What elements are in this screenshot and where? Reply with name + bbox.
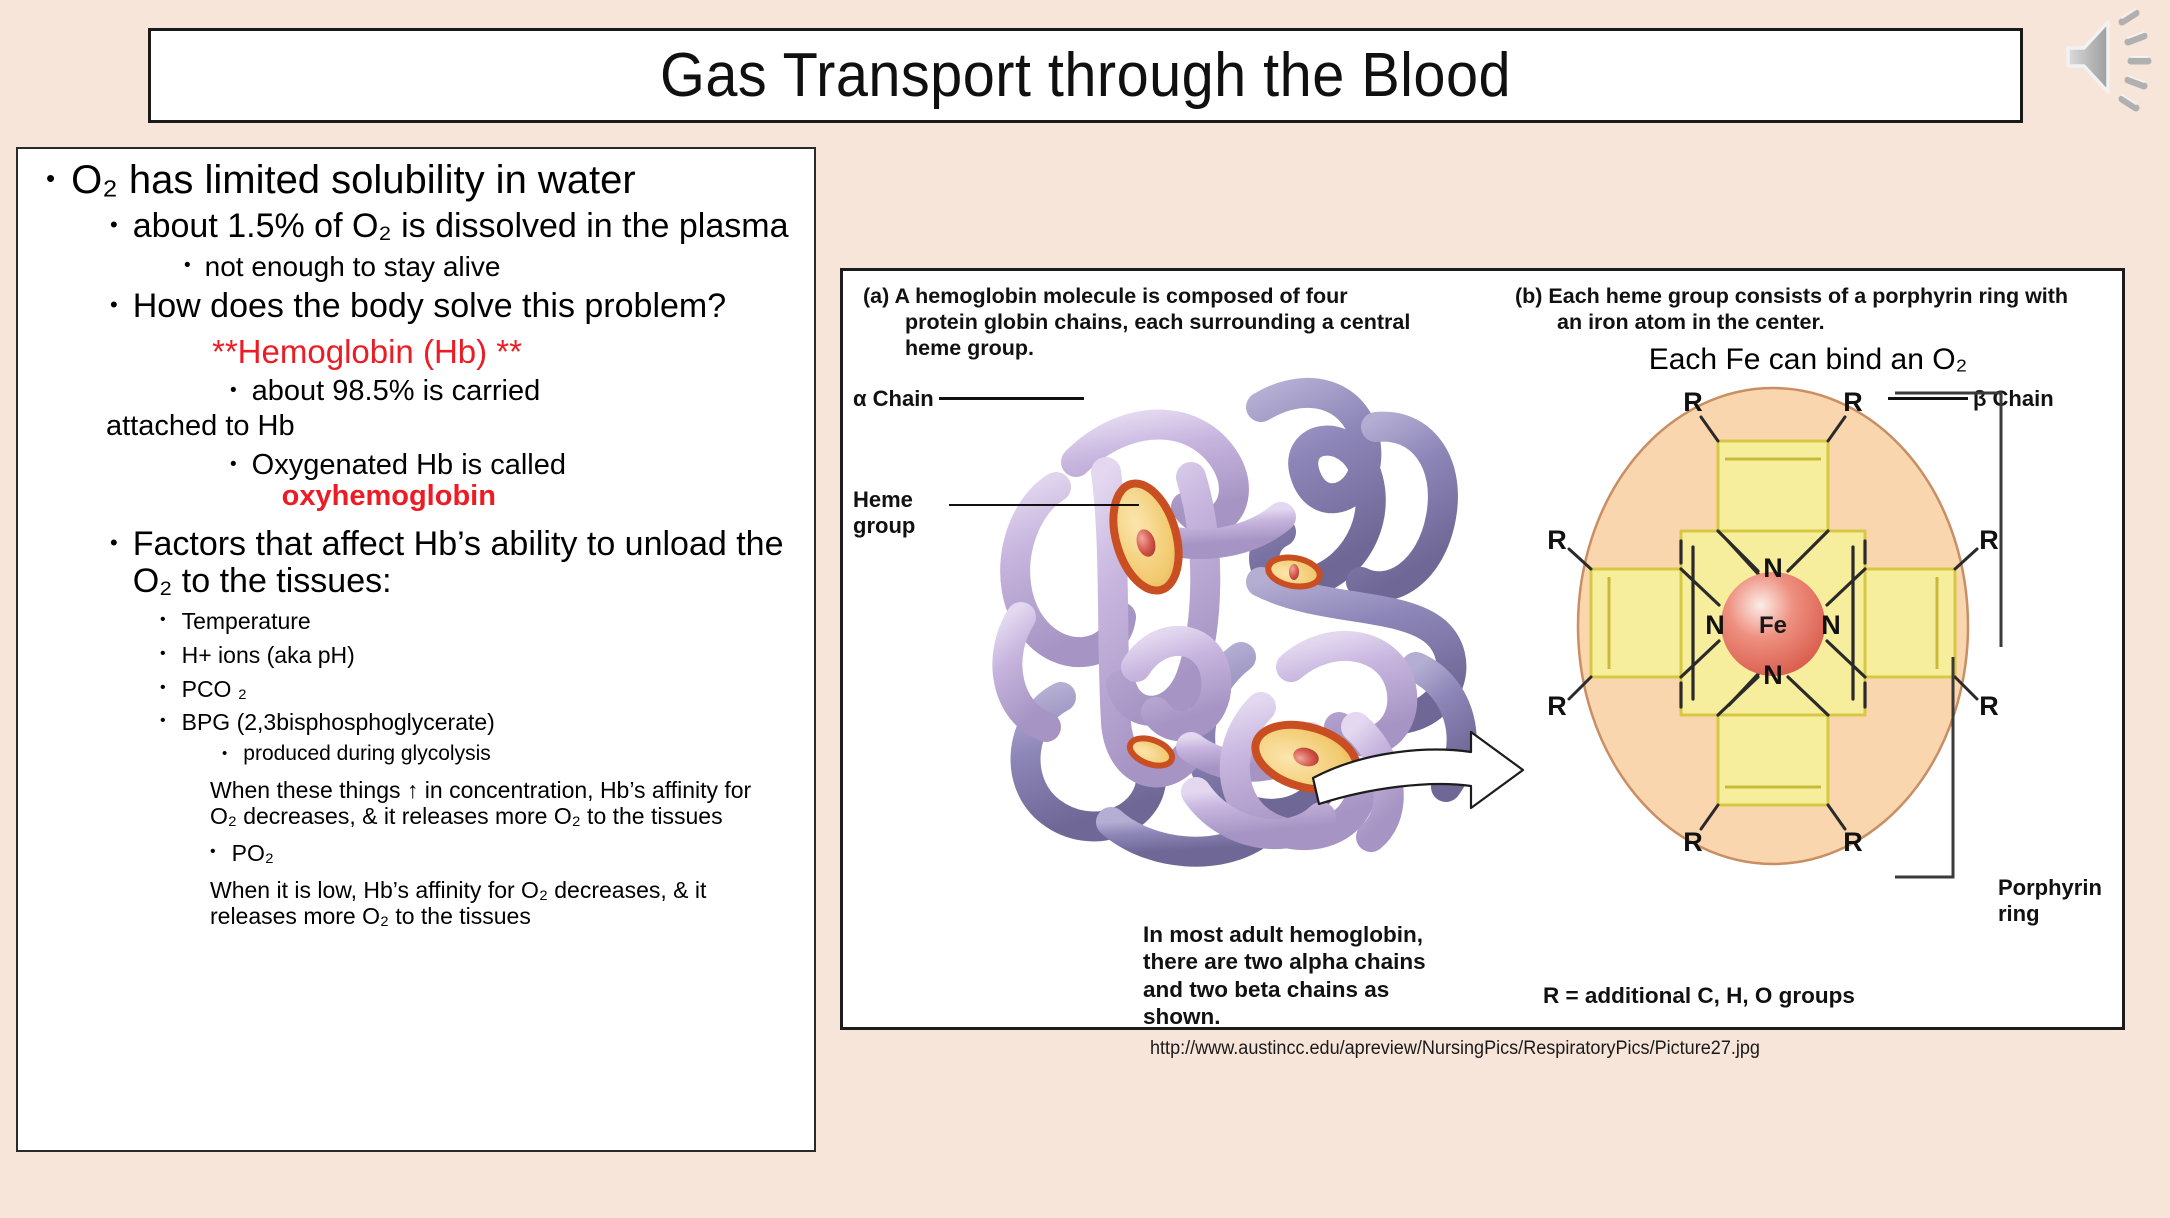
- bullet-level1: • O₂ has limited solubility in water: [46, 159, 800, 202]
- bullet-dot-icon: •: [160, 713, 166, 729]
- bullet-dot-icon: •: [210, 844, 216, 860]
- bullet-text: O₂ has limited solubility in water: [71, 159, 800, 202]
- factor-sub-label: produced during glycolysis: [243, 743, 800, 766]
- figure-caption-b: (b) Each heme group consists of a porphy…: [1515, 283, 2085, 335]
- hemoglobin-heading: **Hemoglobin (Hb) **: [212, 334, 800, 370]
- bullet-dot-icon: •: [160, 646, 166, 662]
- bullet-text: How does the body solve this problem?: [133, 288, 800, 325]
- factor-label: PCO ₂: [182, 677, 800, 702]
- bullet-dot-icon: •: [230, 455, 237, 474]
- factor-list-item: • Temperature: [160, 609, 800, 634]
- label-porphyrin-ring: Porphyrin ring: [1998, 875, 2108, 927]
- svg-text:R: R: [1843, 387, 1863, 417]
- factor-list-item: • PO₂: [210, 841, 800, 866]
- bullet-text: about 1.5% of O₂ is dissolved in the pla…: [133, 208, 800, 245]
- source-url-caption: http://www.austincc.edu/apreview/Nursing…: [1150, 1038, 1760, 1060]
- svg-text:N: N: [1763, 553, 1783, 583]
- hemoglobin-molecule-illustration: [961, 367, 1521, 897]
- bullet-level2: • about 1.5% of O₂ is dissolved in the p…: [110, 208, 800, 245]
- bullet-level3: • about 98.5% is carried: [230, 376, 800, 407]
- svg-text:N: N: [1763, 660, 1783, 690]
- iron-atom-label: Fe: [1759, 612, 1787, 639]
- page-title: Gas Transport through the Blood: [660, 40, 1511, 111]
- label-alpha-chain: α Chain: [853, 386, 934, 412]
- svg-text:N: N: [1821, 610, 1841, 640]
- bullet-continuation: attached to Hb: [106, 410, 800, 443]
- factor-sub-item: • produced during glycolysis: [222, 743, 800, 766]
- figure-bottom-note-b: R = additional C, H, O groups: [1543, 983, 1855, 1009]
- leader-line-alpha: [939, 397, 1084, 400]
- leader-line-heme: [949, 504, 1139, 506]
- speaker-icon[interactable]: [2062, 6, 2162, 118]
- svg-text:R: R: [1683, 387, 1703, 417]
- svg-text:R: R: [1547, 691, 1567, 721]
- figure-caption-a: (a) A hemoglobin molecule is composed of…: [863, 283, 1423, 362]
- bullet-level3: • Oxygenated Hb is called oxyhemoglobin: [230, 450, 800, 513]
- hemoglobin-figure: (a) A hemoglobin molecule is composed of…: [840, 268, 2125, 1030]
- svg-text:N: N: [1705, 610, 1725, 640]
- factor-label: BPG (2,3bisphosphoglycerate): [182, 710, 800, 735]
- bullet-dot-icon: •: [110, 214, 118, 236]
- porphyrin-ring-bracket: [1893, 389, 2023, 889]
- factor-list-item: • H+ ions (aka pH): [160, 643, 800, 668]
- bullet-text: not enough to stay alive: [205, 252, 800, 282]
- slide-content-box: • O₂ has limited solubility in water • a…: [16, 147, 816, 1152]
- slide-title-box: Gas Transport through the Blood: [148, 28, 2023, 123]
- bullet-dot-icon: •: [230, 381, 237, 400]
- factor-list-item: • PCO ₂: [160, 677, 800, 702]
- oxyhemoglobin-term: oxyhemoglobin: [282, 481, 496, 512]
- bullet-level2: • Factors that affect Hb’s ability to un…: [110, 526, 800, 599]
- zoom-arrow-icon: [1311, 726, 1526, 816]
- bullet-text: Oxygenated Hb is called: [252, 449, 566, 481]
- bullet-dot-icon: •: [110, 294, 118, 316]
- svg-text:R: R: [1843, 827, 1863, 857]
- figure-note-fe-binds-o2: Each Fe can bind an O₂: [1543, 343, 2073, 377]
- svg-text:R: R: [1547, 525, 1567, 555]
- factor-list-item: • BPG (2,3bisphosphoglycerate): [160, 710, 800, 735]
- bullet-dot-icon: •: [160, 612, 166, 628]
- bullet-dot-icon: •: [46, 165, 55, 191]
- svg-text:R: R: [1683, 827, 1703, 857]
- bullet-dot-icon: •: [222, 746, 227, 761]
- bullet-text: Factors that affect Hb’s ability to unlo…: [133, 526, 800, 599]
- bullet-dot-icon: •: [110, 532, 118, 554]
- bullet-level2: • How does the body solve this problem?: [110, 288, 800, 325]
- factor-label: H+ ions (aka pH): [182, 643, 800, 668]
- bullet-dot-icon: •: [160, 680, 166, 696]
- figure-bottom-note-a: In most adult hemoglobin, there are two …: [1143, 921, 1453, 1030]
- factor-label: PO₂: [232, 841, 800, 866]
- explanation-paragraph-2: When it is low, Hb’s affinity for O₂ dec…: [210, 878, 780, 930]
- explanation-paragraph-1: When these things ↑ in concentration, Hb…: [210, 778, 780, 830]
- bullet-text: about 98.5% is carried: [252, 376, 800, 407]
- bullet-level3: • not enough to stay alive: [184, 252, 800, 282]
- label-heme-group: Heme group: [853, 487, 945, 539]
- factor-label: Temperature: [182, 609, 800, 634]
- bullet-dot-icon: •: [184, 256, 191, 275]
